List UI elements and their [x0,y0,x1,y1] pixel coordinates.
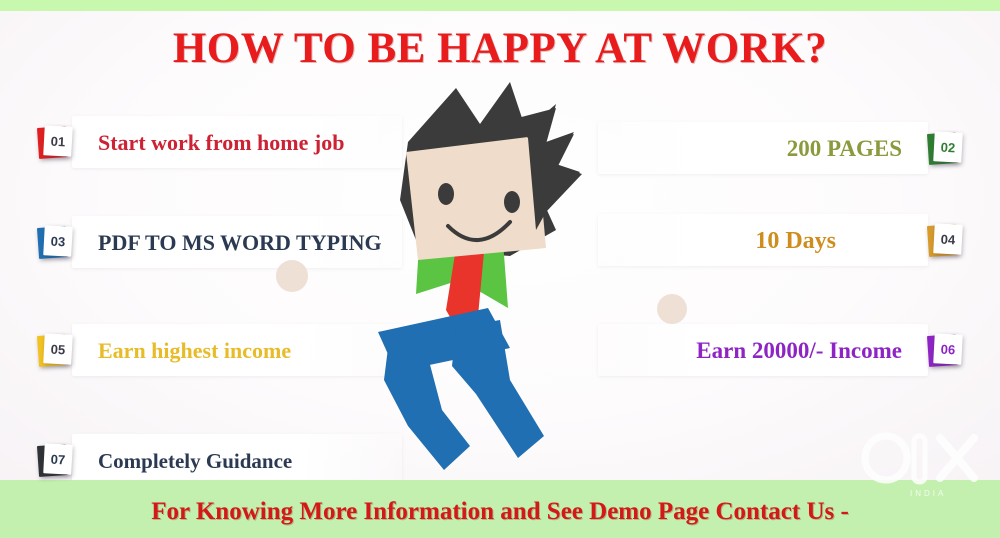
page-title: HOW TO BE HAPPY AT WORK? [0,24,1000,73]
feature-label-06: Earn 20000/- Income [696,338,902,364]
badge-number-03: 03 [50,234,65,248]
badge-number-07: 07 [50,452,65,466]
feature-label-07: Completely Guidance [98,449,292,474]
badge-front-card-04: 04 [933,223,963,254]
feature-label-05: Earn highest income [98,338,291,364]
badge-front-card-07: 07 [43,443,73,474]
olx-watermark: INDIA [858,428,984,504]
feature-row-03[interactable]: 03 PDF TO MS WORD TYPING [38,216,382,270]
olx-o-icon [865,436,907,480]
olx-watermark-sub: INDIA [910,489,946,498]
feature-row-05[interactable]: 05 Earn highest income [38,324,291,378]
step-badge-04: 04 [928,224,962,258]
poster: HOW TO BE HAPPY AT WORK? 01 Start work f… [0,0,1000,538]
feature-row-02[interactable]: 02 200 PAGES [787,122,962,176]
feature-row-06[interactable]: 06 Earn 20000/- Income [696,324,962,378]
decorative-dot-left [276,260,308,292]
step-badge-01: 01 [38,126,72,160]
badge-front-card-05: 05 [43,333,73,364]
contact-banner-text: For Knowing More Information and See Dem… [0,498,1000,526]
olx-bar-icon [914,436,925,482]
feature-label-01: Start work from home job [98,130,344,156]
badge-front-card-03: 03 [43,225,73,256]
feature-label-03: PDF TO MS WORD TYPING [98,230,382,256]
step-badge-02: 02 [928,132,962,166]
decorative-dot-right [657,294,687,324]
feature-label-02: 200 PAGES [787,136,902,162]
right-eye [504,191,520,213]
left-eye [438,183,454,205]
badge-number-02: 02 [940,140,955,154]
feature-row-01[interactable]: 01 Start work from home job [38,116,344,170]
top-green-band [0,0,1000,11]
step-badge-03: 03 [38,226,72,260]
step-badge-07: 07 [38,444,72,478]
happy-jumping-man-illustration [360,80,640,470]
badge-number-01: 01 [50,134,65,148]
badge-number-06: 06 [940,342,955,356]
step-badge-06: 06 [928,334,962,368]
badge-number-04: 04 [940,232,955,246]
olx-x-icon [940,438,974,478]
badge-front-card-02: 02 [933,131,963,162]
badge-front-card-01: 01 [43,125,73,156]
feature-label-04: 10 Days [755,228,836,255]
badge-front-card-06: 06 [933,333,963,364]
right-leg-shape [452,320,544,458]
feature-row-04[interactable]: 04 10 Days [755,214,962,268]
badge-number-05: 05 [50,342,65,356]
step-badge-05: 05 [38,334,72,368]
